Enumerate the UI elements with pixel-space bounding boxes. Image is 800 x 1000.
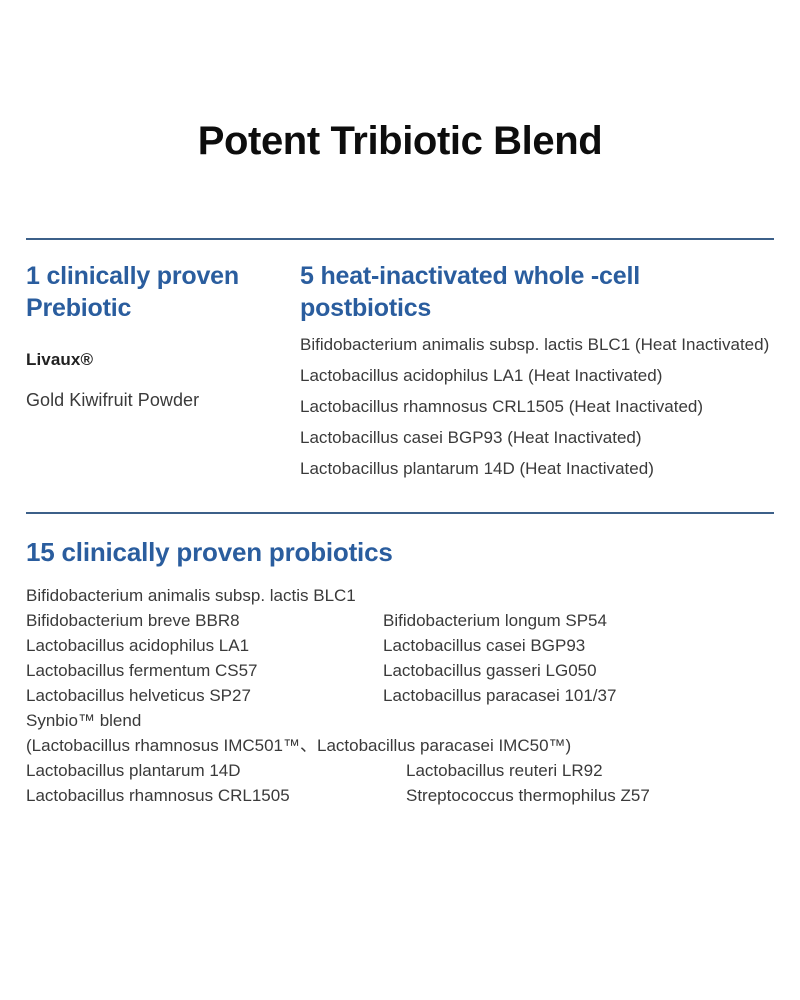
strain-cell: Bifidobacterium breve BBR8 [26,609,383,634]
list-item: Lactobacillus acidophilus LA1 (Heat Inac… [300,365,774,387]
postbiotic-column: 5 heat-inactivated whole -cell postbioti… [298,260,774,480]
list-item: Bifidobacterium animalis subsp. lactis B… [300,334,774,356]
postbiotic-heading: 5 heat-inactivated whole -cell postbioti… [300,260,774,324]
table-row: Bifidobacterium animalis subsp. lactis B… [26,584,774,609]
strain-cell: Lactobacillus acidophilus LA1 [26,634,383,659]
strain-cell: Bifidobacterium animalis subsp. lactis B… [26,584,774,609]
synbio-blend-label: Synbio™ blend [26,709,774,734]
strain-cell: Lactobacillus gasseri LG050 [383,659,774,684]
prebiotic-column: 1 clinically proven Prebiotic Livaux® Go… [26,260,298,411]
list-item: Lactobacillus plantarum 14D (Heat Inacti… [300,458,774,480]
strain-cell: Bifidobacterium longum SP54 [383,609,774,634]
strain-cell: Streptococcus thermophilus Z57 [406,784,774,809]
strain-cell: Lactobacillus casei BGP93 [383,634,774,659]
table-row: Lactobacillus plantarum 14D Lactobacillu… [26,759,774,784]
table-row: Lactobacillus rhamnosus CRL1505 Streptoc… [26,784,774,809]
strain-cell: Lactobacillus fermentum CS57 [26,659,383,684]
page-title: Potent Tribiotic Blend [26,0,774,164]
table-row: Lactobacillus helveticus SP27 Lactobacil… [26,684,774,709]
strain-cell: Lactobacillus rhamnosus CRL1505 [26,784,406,809]
probiotics-heading: 15 clinically proven probiotics [26,536,774,569]
strain-cell: Lactobacillus plantarum 14D [26,759,406,784]
probiotics-strain-grid: Bifidobacterium animalis subsp. lactis B… [26,584,774,809]
table-row: Bifidobacterium breve BBR8 Bifidobacteri… [26,609,774,634]
probiotics-section: 15 clinically proven probiotics Bifidoba… [26,514,774,808]
supplement-blend-panel: Potent Tribiotic Blend 1 clinically prov… [0,0,800,1000]
prebiotic-brand-name: Livaux® [26,350,282,370]
postbiotic-strain-list: Bifidobacterium animalis subsp. lactis B… [300,334,774,480]
strain-cell: Lactobacillus paracasei 101/37 [383,684,774,709]
synbio-blend-contents: (Lactobacillus rhamnosus IMC501™、Lactoba… [26,734,774,759]
strain-cell: Lactobacillus helveticus SP27 [26,684,383,709]
table-row: Synbio™ blend [26,709,774,734]
table-row: Lactobacillus acidophilus LA1 Lactobacil… [26,634,774,659]
table-row: Lactobacillus fermentum CS57 Lactobacill… [26,659,774,684]
strain-cell: Lactobacillus reuteri LR92 [406,759,774,784]
prebiotic-heading: 1 clinically proven Prebiotic [26,260,282,324]
prebiotic-description: Gold Kiwifruit Powder [26,390,282,411]
table-row: (Lactobacillus rhamnosus IMC501™、Lactoba… [26,734,774,759]
list-item: Lactobacillus casei BGP93 (Heat Inactiva… [300,427,774,449]
list-item: Lactobacillus rhamnosus CRL1505 (Heat In… [300,396,774,418]
prebiotic-postbiotic-section: 1 clinically proven Prebiotic Livaux® Go… [26,240,774,480]
